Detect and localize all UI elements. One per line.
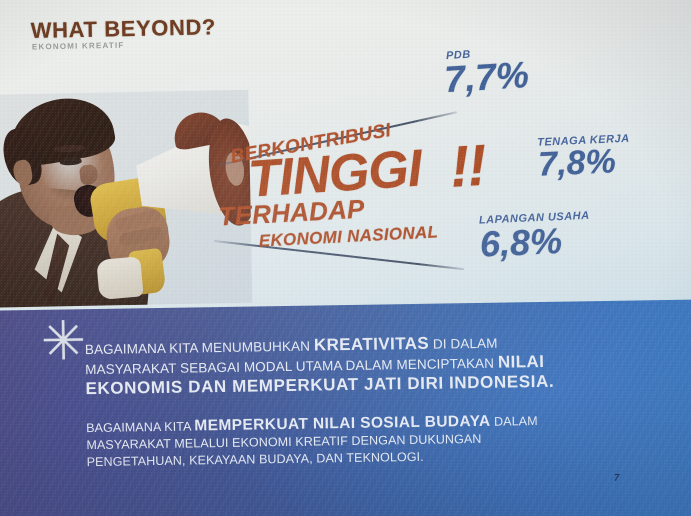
p2l1-a: BAGAIMANA KITA [86,419,194,435]
bullet-paragraph-1: BAGAIMANA KITA MENUMBUHKAN KREATIVITAS D… [85,332,555,398]
page-title: WHAT BEYOND? [31,14,217,44]
stat-tenaga-kerja: TENAGA KERJA 7,8% [537,133,631,185]
stat-pdb-value: 7,7% [443,54,530,101]
shirt-cuff [96,256,143,300]
stat-tenaga-kerja-value: 7,8% [537,142,631,185]
asterisk-bullet-icon: ✳ [40,321,85,366]
p1l2-b: NILAI [498,352,545,372]
p1l1-c: DI DALAM [429,336,498,352]
bullet-paragraph-2: BAGAIMANA KITA MEMPERKUAT NILAI SOSIAL B… [86,412,538,471]
upper-panel: WHAT BEYOND? EKONOMI KREATIF [0,0,691,327]
p1l1-a: BAGAIMANA KITA MENUMBUHKAN [85,339,314,358]
megaphone-photo [0,90,252,308]
projected-slide: WHAT BEYOND? EKONOMI KREATIF [0,0,691,516]
p1l1-b: KREATIVITAS [314,334,430,355]
stat-lapangan-usaha: LAPANGAN USAHA 6,8% [479,210,592,266]
page-number: 7 [614,473,620,484]
stat-pdb: PDB 7,7% [443,45,530,101]
lower-blue-panel: ✳ BAGAIMANA KITA MENUMBUHKAN KREATIVITAS… [0,299,691,516]
page-subtitle: EKONOMI KREATIF [32,41,125,52]
stat-lapangan-usaha-value: 6,8% [479,219,591,266]
headline-exclamation: !! [448,132,487,201]
p2l1-c: DALAM [490,414,537,429]
